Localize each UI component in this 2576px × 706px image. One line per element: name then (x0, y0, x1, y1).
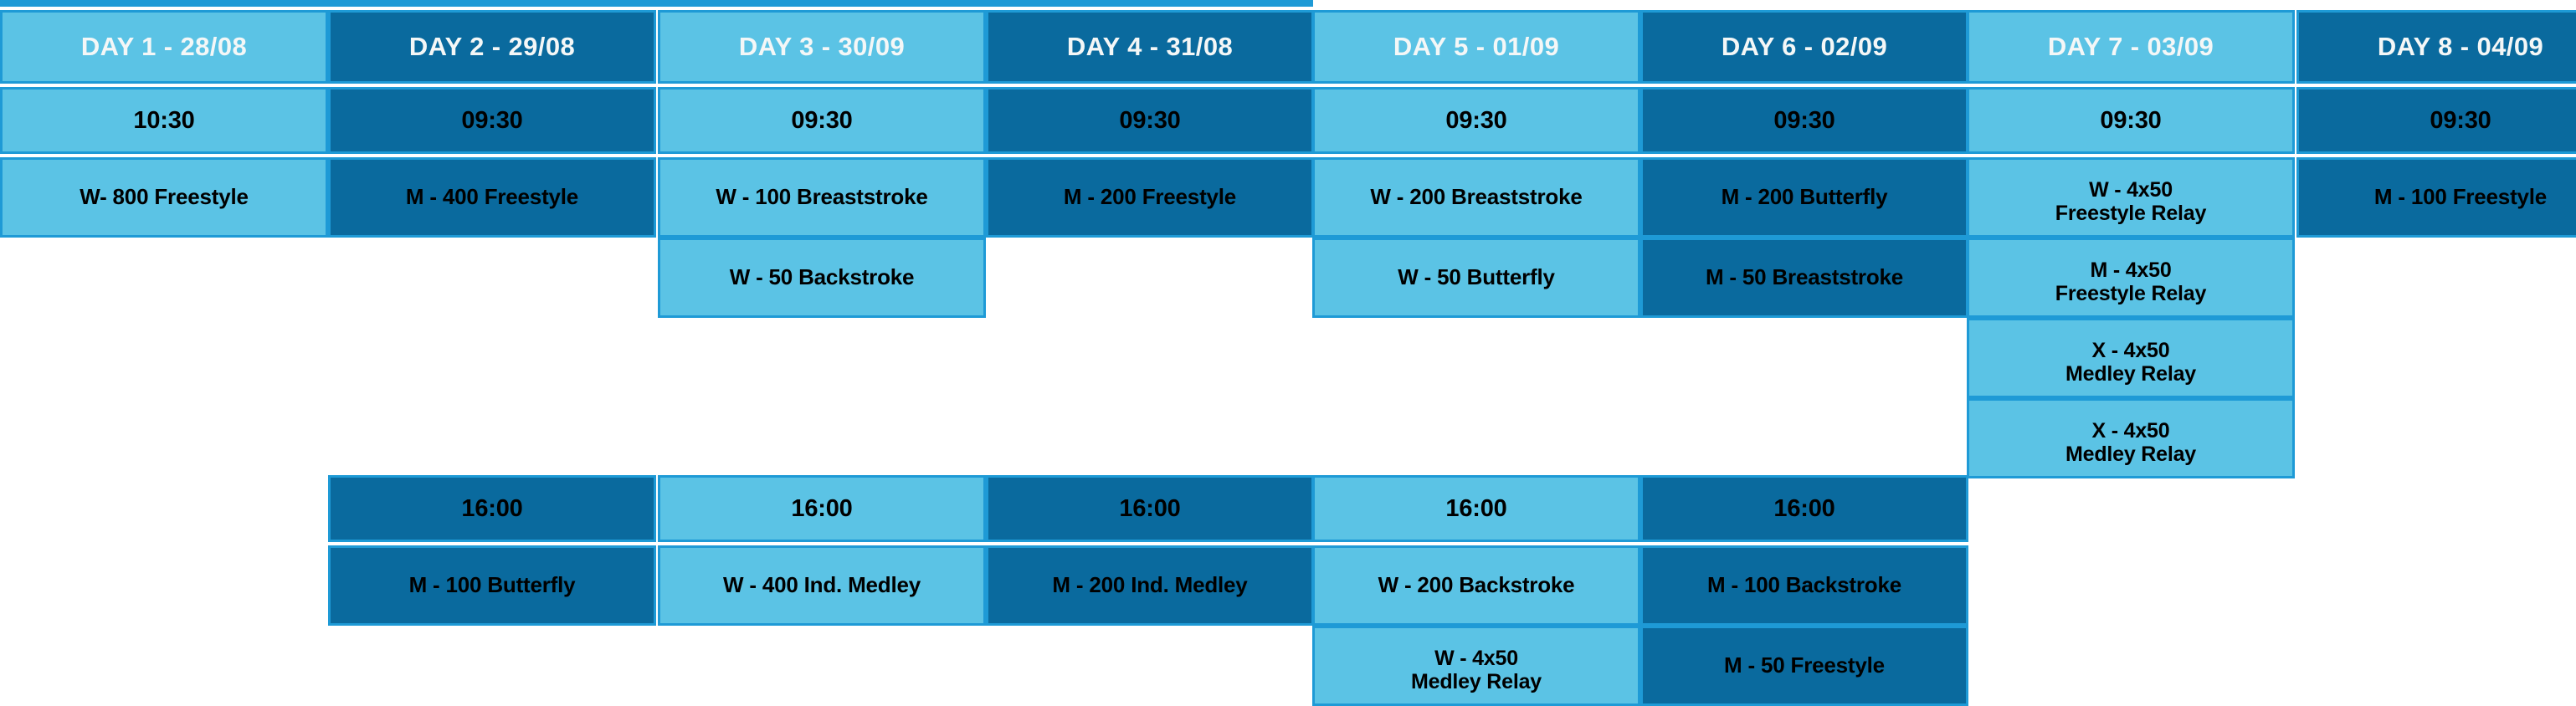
event-line: M - 4x50 (1974, 258, 2287, 282)
morning-event-day-1-1[interactable]: W- 800 Freestyle (0, 157, 328, 238)
afternoon-time-day-3: 16:00 (658, 475, 986, 542)
morning-time-day-5: 09:30 (1312, 87, 1640, 154)
afternoon-event-day-5-2[interactable]: W - 4x50Medley Relay (1312, 626, 1640, 706)
morning-time-day-8: 09:30 (2296, 87, 2576, 154)
event-line: Medley Relay (1974, 362, 2287, 386)
schedule-table: DAY 1 - 28/0810:30W- 800 FreestyleDAY 2 … (0, 0, 2576, 691)
afternoon-event-day-2-1[interactable]: M - 100 Butterfly (328, 545, 656, 626)
event-line: W - 4x50 (1320, 647, 1633, 670)
morning-event-day-7-3[interactable]: X - 4x50Medley Relay (1967, 318, 2295, 398)
afternoon-event-day-3-1[interactable]: W - 400 Ind. Medley (658, 545, 986, 626)
day-header-1[interactable]: DAY 1 - 28/08 (0, 10, 328, 84)
morning-event-day-6-1[interactable]: M - 200 Butterfly (1640, 157, 1968, 238)
day-header-7[interactable]: DAY 7 - 03/09 (1967, 10, 2295, 84)
morning-event-day-7-4[interactable]: X - 4x50Medley Relay (1967, 398, 2295, 478)
afternoon-time-day-6: 16:00 (1640, 475, 1968, 542)
afternoon-event-day-6-1[interactable]: M - 100 Backstroke (1640, 545, 1968, 626)
morning-time-day-1: 10:30 (0, 87, 328, 154)
afternoon-event-day-5-1[interactable]: W - 200 Backstroke (1312, 545, 1640, 626)
morning-time-day-6: 09:30 (1640, 87, 1968, 154)
morning-event-day-4-1[interactable]: M - 200 Freestyle (986, 157, 1314, 238)
afternoon-event-day-6-2[interactable]: M - 50 Freestyle (1640, 626, 1968, 706)
morning-event-day-6-2[interactable]: M - 50 Breaststroke (1640, 238, 1968, 318)
morning-time-day-3: 09:30 (658, 87, 986, 154)
event-line: Medley Relay (1974, 443, 2287, 466)
morning-time-day-4: 09:30 (986, 87, 1314, 154)
afternoon-event-day-4-1[interactable]: M - 200 Ind. Medley (986, 545, 1314, 626)
afternoon-time-day-2: 16:00 (328, 475, 656, 542)
day-header-4[interactable]: DAY 4 - 31/08 (986, 10, 1314, 84)
morning-event-day-7-1[interactable]: W - 4x50Freestyle Relay (1967, 157, 2295, 238)
morning-time-day-7: 09:30 (1967, 87, 2295, 154)
event-line: W - 4x50 (1974, 178, 2287, 202)
morning-event-day-5-1[interactable]: W - 200 Breaststroke (1312, 157, 1640, 238)
day-header-3[interactable]: DAY 3 - 30/09 (658, 10, 986, 84)
morning-event-day-8-1[interactable]: M - 100 Freestyle (2296, 157, 2576, 238)
morning-event-day-5-2[interactable]: W - 50 Butterfly (1312, 238, 1640, 318)
header-top-band (0, 0, 1313, 7)
event-line: Freestyle Relay (1974, 202, 2287, 225)
event-line: X - 4x50 (1974, 419, 2287, 443)
morning-event-day-7-2[interactable]: M - 4x50Freestyle Relay (1967, 238, 2295, 318)
morning-event-day-3-2[interactable]: W - 50 Backstroke (658, 238, 986, 318)
day-header-5[interactable]: DAY 5 - 01/09 (1312, 10, 1640, 84)
event-line: Medley Relay (1320, 670, 1633, 693)
afternoon-time-day-5: 16:00 (1312, 475, 1640, 542)
day-header-8[interactable]: DAY 8 - 04/09 (2296, 10, 2576, 84)
afternoon-time-day-4: 16:00 (986, 475, 1314, 542)
morning-time-day-2: 09:30 (328, 87, 656, 154)
morning-event-day-2-1[interactable]: M - 400 Freestyle (328, 157, 656, 238)
day-header-2[interactable]: DAY 2 - 29/08 (328, 10, 656, 84)
event-line: X - 4x50 (1974, 339, 2287, 362)
event-line: Freestyle Relay (1974, 282, 2287, 305)
day-header-6[interactable]: DAY 6 - 02/09 (1640, 10, 1968, 84)
morning-event-day-3-1[interactable]: W - 100 Breaststroke (658, 157, 986, 238)
